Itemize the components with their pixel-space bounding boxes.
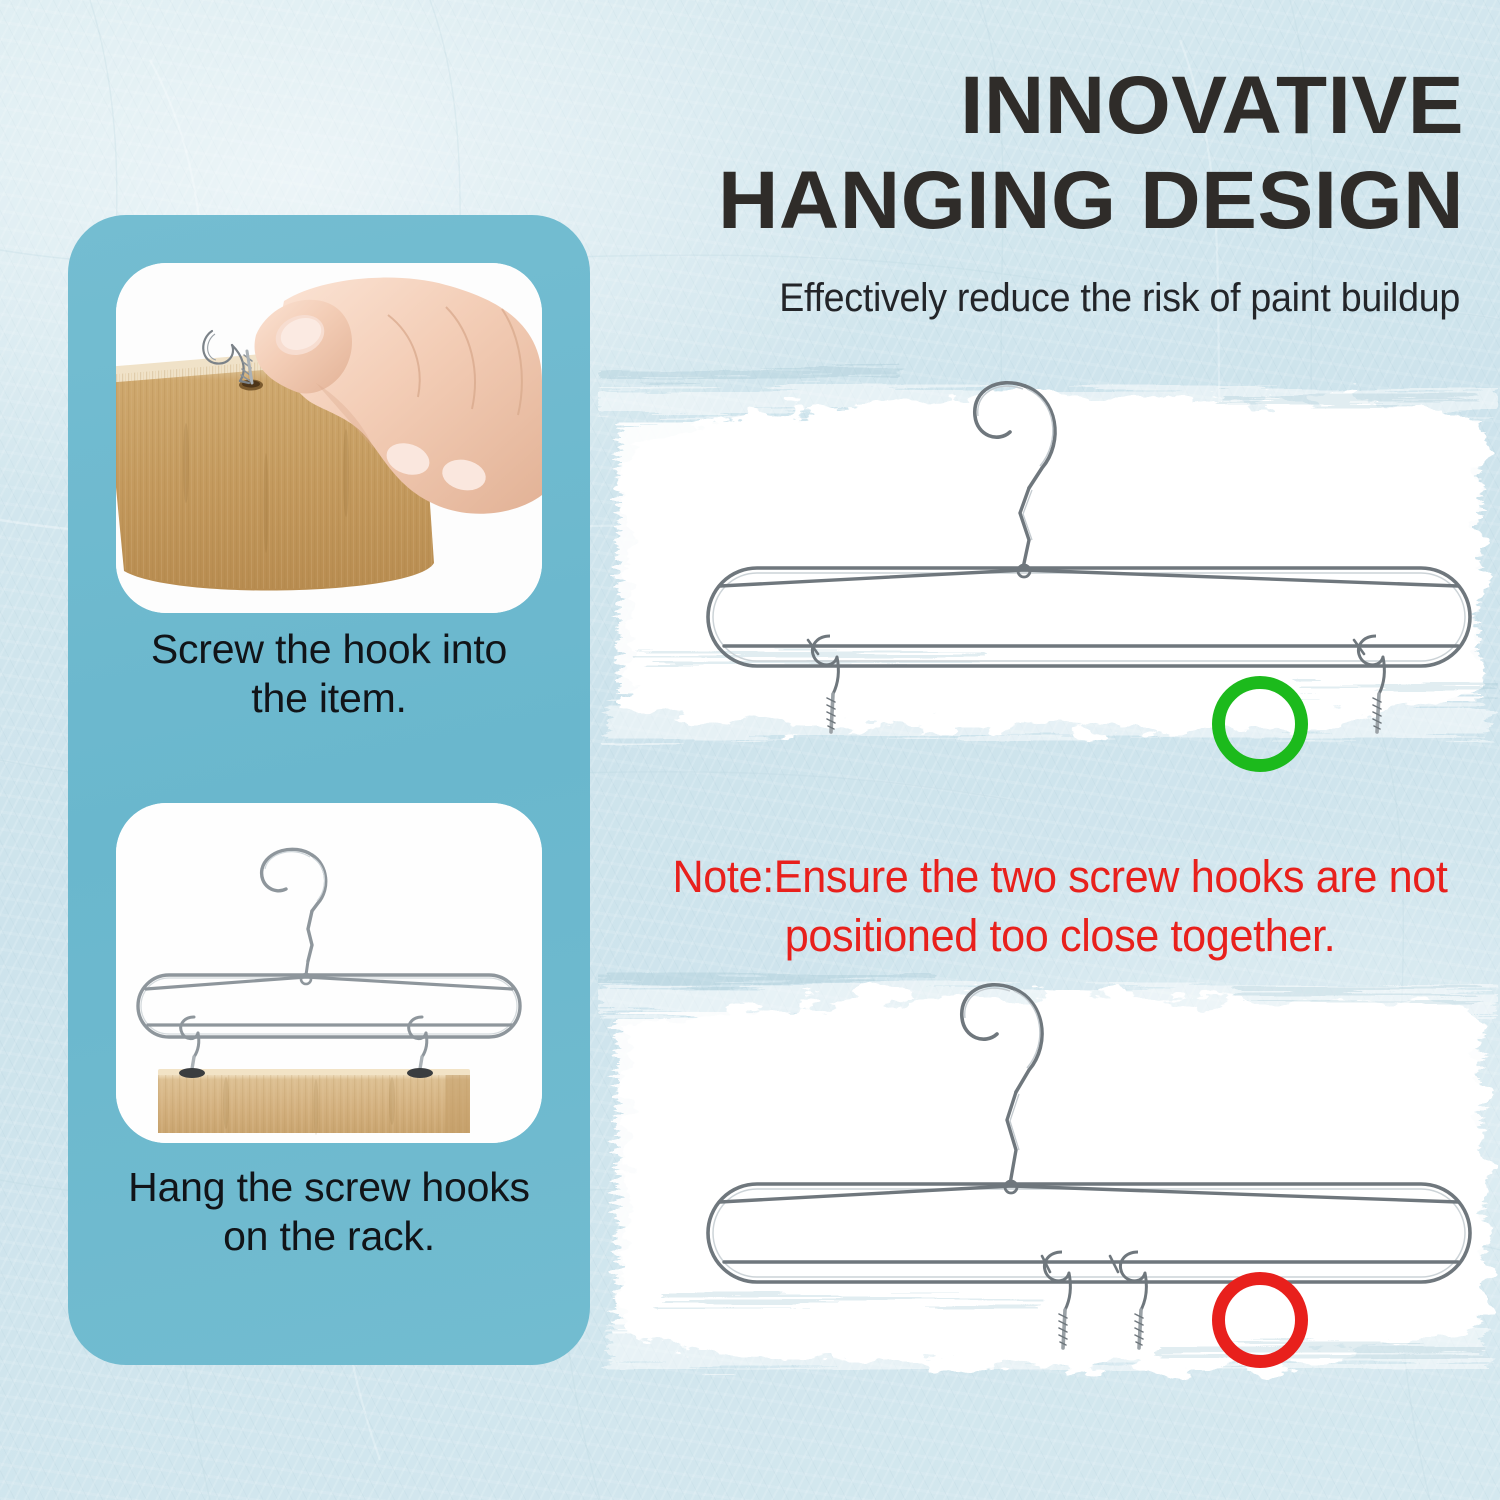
warning-note-line-1: Note:Ensure the two screw hooks are not [657, 848, 1463, 907]
warning-note: Note:Ensure the two screw hooks are not … [657, 848, 1463, 965]
step-1-caption-line-1: Screw the hook into [68, 625, 590, 674]
step-1-caption-line-2: the item. [68, 674, 590, 723]
verdict-circle-correct [1212, 676, 1308, 772]
verdict-circle-incorrect [1212, 1272, 1308, 1368]
heading-line-1: INNOVATIVE [546, 58, 1464, 153]
step-2-caption: Hang the screw hooks on the rack. [68, 1163, 590, 1261]
heading-line-2: HANGING DESIGN [546, 153, 1464, 248]
steps-panel: Screw the hook into the item. [68, 215, 590, 1365]
page-title: INNOVATIVE HANGING DESIGN [564, 58, 1464, 248]
step-1-caption: Screw the hook into the item. [68, 625, 590, 723]
step-2-caption-line-2: on the rack. [68, 1212, 590, 1261]
warning-note-line-2: positioned too close together. [657, 907, 1463, 966]
hanger-diagram-narrow-hooks [690, 980, 1490, 1370]
step-2-photo [116, 803, 542, 1143]
subtitle: Effectively reduce the risk of paint bui… [614, 276, 1460, 321]
step-1-photo [116, 263, 542, 613]
hanger-diagram-wide-hooks [690, 368, 1490, 758]
step-2-caption-line-1: Hang the screw hooks [68, 1163, 590, 1212]
